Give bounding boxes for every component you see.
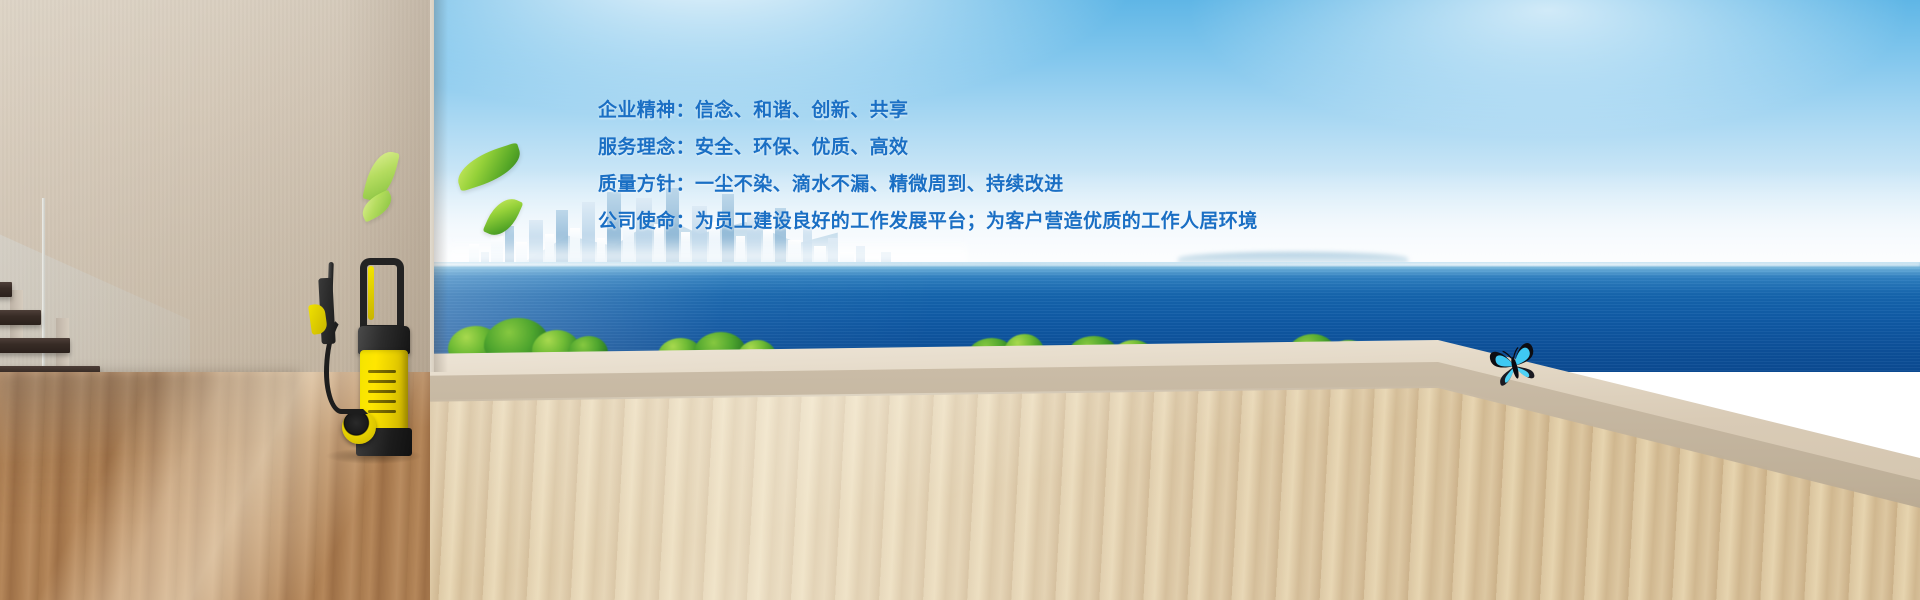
culture-text-block: 企业精神：信念、和谐、创新、共享 服务理念：安全、环保、优质、高效 质量方针：一… (598, 92, 1258, 240)
culture-line-service: 服务理念：安全、环保、优质、高效 (598, 129, 1258, 166)
floor-reflection (0, 372, 300, 522)
culture-line-quality: 质量方针：一尘不染、滴水不漏、精微周到、持续改进 (598, 166, 1258, 203)
culture-line-mission: 公司使命：为员工建设良好的工作发展平台；为客户营造优质的工作人居环境 (598, 203, 1258, 240)
window-frame-shadow (434, 0, 448, 372)
wood-ledge (408, 340, 1920, 600)
culture-line-spirit: 企业精神：信念、和谐、创新、共享 (598, 92, 1258, 129)
company-culture-banner: 企业精神：信念、和谐、创新、共享 服务理念：安全、环保、优质、高效 质量方针：一… (0, 0, 1920, 600)
pressure-washer-icon (306, 252, 426, 460)
butterfly-icon (1488, 340, 1540, 392)
seaside-mural (408, 0, 1920, 600)
